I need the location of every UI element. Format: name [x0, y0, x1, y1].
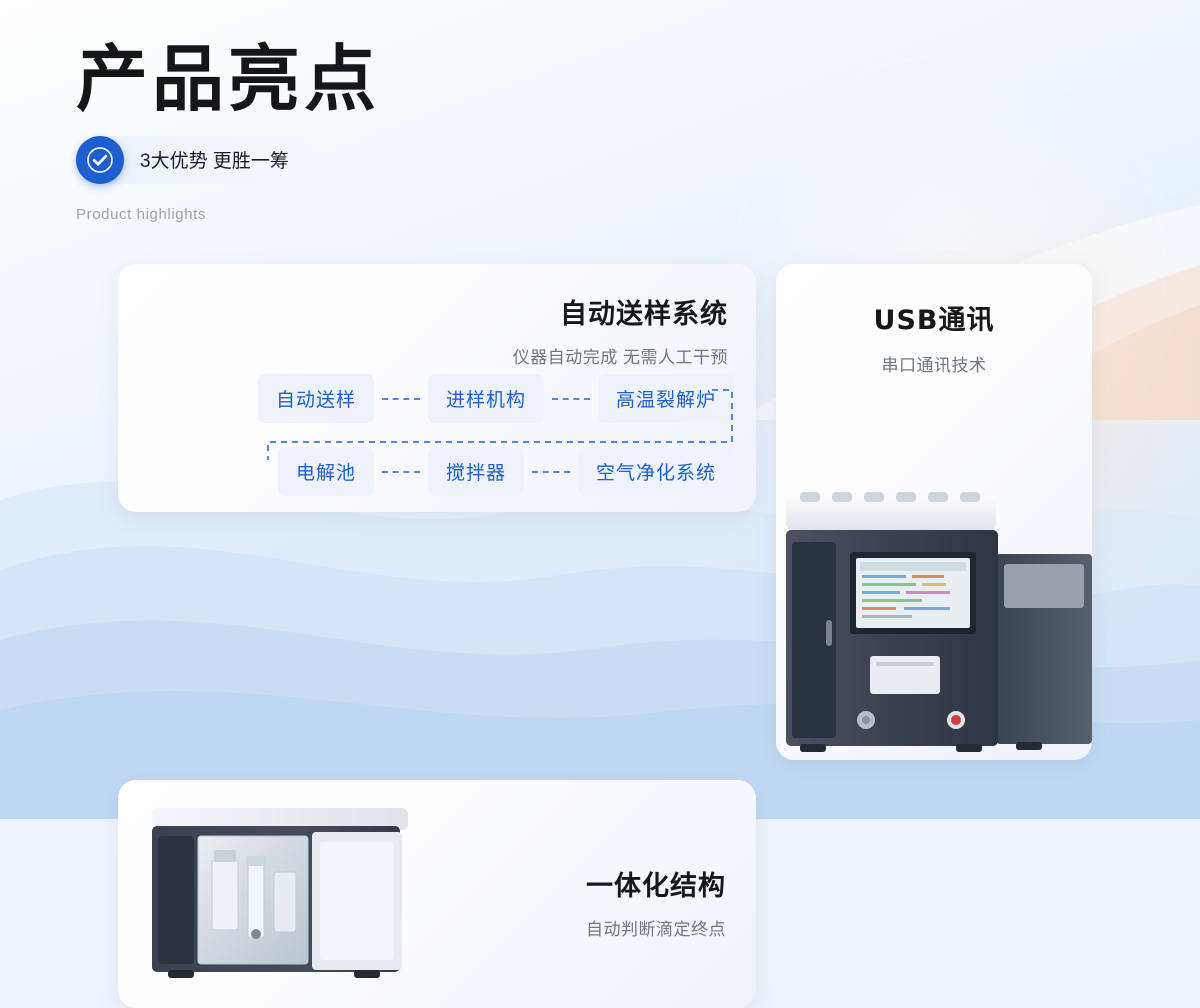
flow-connector-dash	[382, 471, 420, 473]
flow-chip-injection: 进样机构	[428, 374, 544, 423]
cards-top-row: 自动送样系统 仪器自动完成 无需人工干预 自动送样 进样机构 高温裂解炉 电解池…	[118, 264, 1092, 760]
analyzer-side-photo	[144, 802, 444, 994]
flow-row-2: 电解池 搅拌器 空气净化系统	[140, 447, 734, 496]
flow-diagram: 自动送样 进样机构 高温裂解炉 电解池 搅拌器 空气净化系统	[118, 374, 756, 496]
card-usb-head: USB通讯 串口通讯技术	[776, 298, 1092, 376]
card-usb: USB通讯 串口通讯技术	[776, 264, 1092, 760]
card-auto-sampling-head: 自动送样系统 仪器自动完成 无需人工干预	[513, 292, 728, 368]
page-title: 产品亮点	[76, 42, 380, 118]
analyzer-front-photo	[776, 490, 1092, 760]
flow-chip-air-purifier: 空气净化系统	[578, 447, 734, 496]
card-auto-sampling-title: 自动送样系统	[513, 292, 728, 331]
advantage-badge: 3大优势 更胜一筹	[76, 136, 315, 184]
card-usb-desc: 串口通讯技术	[776, 351, 1092, 376]
flow-chip-stirrer: 搅拌器	[428, 447, 524, 496]
card-integrated-desc: 自动判断滴定终点	[586, 915, 726, 940]
flow-connector-dash	[382, 398, 420, 400]
flow-chip-auto-feed: 自动送样	[258, 374, 374, 423]
highlight-cards: 自动送样系统 仪器自动完成 无需人工干预 自动送样 进样机构 高温裂解炉 电解池…	[118, 264, 1092, 1008]
card-usb-title: USB通讯	[776, 298, 1092, 337]
check-circle-icon	[76, 136, 124, 184]
card-integrated-head: 一体化结构 自动判断滴定终点	[586, 864, 726, 940]
flow-chip-electrolytic-cell: 电解池	[278, 447, 374, 496]
card-integrated-title: 一体化结构	[586, 864, 726, 903]
flow-connector-dash	[532, 471, 570, 473]
page-header: 产品亮点 3大优势 更胜一筹 Product highlights	[76, 42, 380, 223]
flow-row-1: 自动送样 进样机构 高温裂解炉	[140, 374, 734, 423]
page-subtitle: Product highlights	[76, 206, 380, 223]
flow-chip-pyrolysis: 高温裂解炉	[598, 374, 734, 423]
flow-connector-dash	[552, 398, 590, 400]
badge-label: 3大优势 更胜一筹	[140, 146, 289, 173]
card-integrated-structure: 一体化结构 自动判断滴定终点	[118, 780, 756, 1008]
card-auto-sampling: 自动送样系统 仪器自动完成 无需人工干预 自动送样 进样机构 高温裂解炉 电解池…	[118, 264, 756, 512]
card-auto-sampling-desc: 仪器自动完成 无需人工干预	[513, 343, 728, 368]
